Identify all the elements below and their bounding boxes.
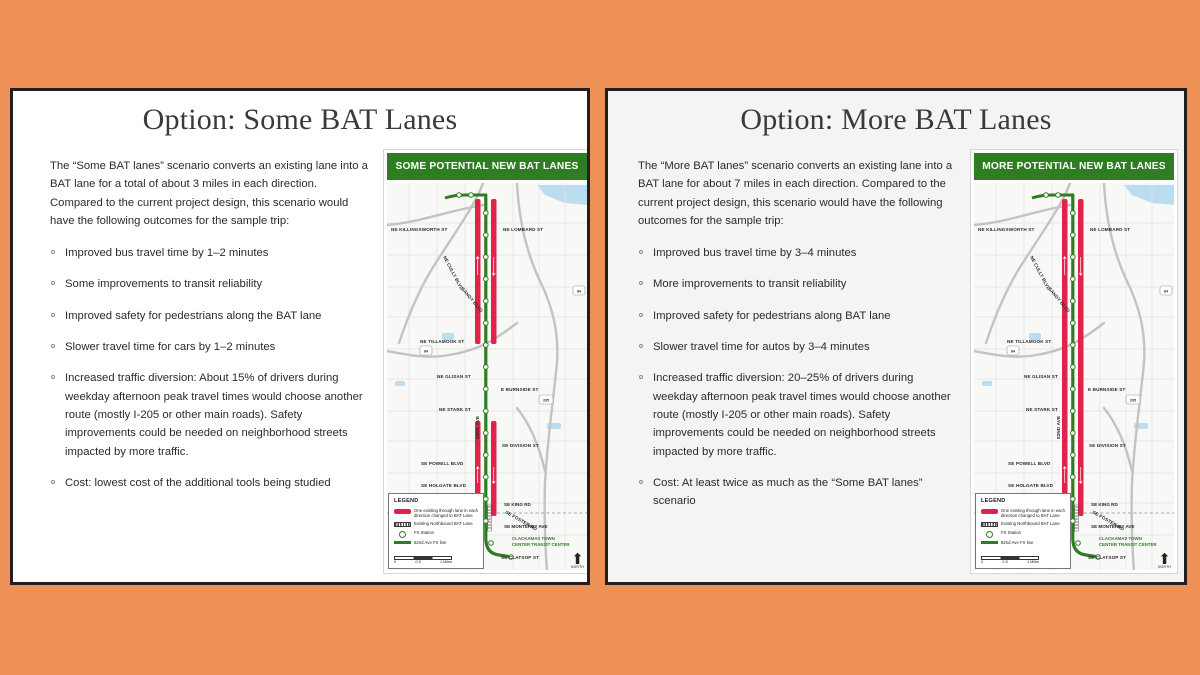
map-label: NE STARK ST [439,407,471,412]
page-title-more: Option: More BAT Lanes [608,103,1184,137]
legend-row: One existing through lane in each direct… [981,508,1066,519]
list-item: Cost: lowest cost of the additional tool… [50,474,368,492]
red-bar-icon [981,508,1001,514]
legend-row: 82nd Ave FX line [981,540,1066,545]
map-label: SE DIVISION ST [502,443,539,448]
map-label: NE STARK ST [1026,407,1058,412]
map-label: SE DIVISION ST [1089,443,1126,448]
north-arrow: ⬆ NORTH [1158,554,1171,569]
outcomes-list-more: Improved bus travel time by 3–4 minutes … [638,244,956,510]
map-card-some: SOME POTENTIAL NEW BAT LANES [383,149,590,574]
map-label: NE TILLAMOOK ST [1007,339,1051,344]
scalebar-tick: 0.5 [415,560,420,565]
text-column-more: The “More BAT lanes” scenario converts a… [638,157,956,523]
panel-body-some: The “Some BAT lanes” scenario converts a… [13,149,587,582]
green-line-icon [394,540,414,544]
map-label-clackamas-town-center: CLACKAMAS TOWN CENTER TRANSIT CENTER [1099,536,1157,547]
scalebar-bar [981,556,1039,559]
highway-shield-84b: 84 [573,286,585,295]
svg-text:84: 84 [1011,350,1015,354]
highway-shield-205: 205 [539,395,553,404]
scalebar-tick: 0 [981,560,983,565]
map-banner-more: MORE POTENTIAL NEW BAT LANES [974,153,1174,180]
svg-text:84: 84 [424,350,428,354]
legend-title: LEGEND [394,498,479,505]
map-label: E BURNSIDE ST [501,387,538,392]
scalebar-tick: 0.5 [1002,560,1007,565]
scalebar-bar [394,556,452,559]
legend-label: One existing through lane in each direct… [414,508,479,519]
map-label-se-monterey-ave: SE MONTEREY AVE [504,524,548,529]
svg-text:205: 205 [1130,399,1136,403]
north-arrow-label: NORTH [571,565,584,569]
svg-text:84: 84 [577,290,581,294]
map-banner-some: SOME POTENTIAL NEW BAT LANES [387,153,587,180]
map-label: NE GLISAN ST [1024,374,1058,379]
highway-shield-84: 84 [1007,346,1019,355]
legend-label: Existing Northbound BAT Lane [414,521,479,526]
intro-paragraph-some: The “Some BAT lanes” scenario converts a… [50,157,368,230]
legend-row: One existing through lane in each direct… [394,508,479,519]
north-arrow-icon: ⬆ [571,554,584,565]
map-label-clackamas-town-center: CLACKAMAS TOWN CENTER TRANSIT CENTER [512,536,570,547]
place-label-line2: CENTER TRANSIT CENTER [512,542,570,548]
hatched-bar-icon [394,521,414,527]
panel-body-more: The “More BAT lanes” scenario converts a… [608,149,1184,582]
list-item: Increased traffic diversion: 20–25% of d… [638,369,956,460]
map-label: SE POWELL BLVD [1008,461,1051,466]
intro-paragraph-more: The “More BAT lanes” scenario converts a… [638,157,956,230]
legend-row: FX Station [394,530,479,538]
north-arrow: ⬆ NORTH [571,554,584,569]
legend-label: 82nd Ave FX line [414,540,479,545]
hatched-bar-icon [981,521,1001,527]
open-circle-icon [981,530,1001,538]
map-label: NE LOMBARD ST [503,227,543,232]
map-label: NE LOMBARD ST [1090,227,1130,232]
legend-label: FX Station [1001,530,1066,535]
open-circle-icon [394,530,414,538]
map-label: NE GLISAN ST [437,374,471,379]
list-item: Slower travel time for cars by 1–2 minut… [50,338,368,356]
map-label: E BURNSIDE ST [1088,387,1125,392]
legend-row: Existing Northbound BAT Lane [981,521,1066,527]
red-bar-icon [394,508,414,514]
list-item: Some improvements to transit reliability [50,275,368,293]
list-item: Improved safety for pedestrians along th… [50,307,368,325]
map-scalebar: 0 0.5 1 Miles [981,556,1039,565]
panel-some-bat-lanes: Option: Some BAT Lanes The “Some BAT lan… [10,88,590,585]
highway-shield-205: 205 [1126,395,1140,404]
map-legend-more: LEGEND One existing through lane in each… [975,493,1071,569]
panel-more-bat-lanes: Option: More BAT Lanes The “More BAT lan… [605,88,1187,585]
legend-label: Existing Northbound BAT Lane [1001,521,1066,526]
place-label-line2: CENTER TRANSIT CENTER [1099,542,1157,548]
highway-shield-84b: 84 [1160,286,1172,295]
map-label: SE CLATSOP ST [1088,555,1126,560]
page-title-some: Option: Some BAT Lanes [13,103,587,137]
map-label: SE CLATSOP ST [501,555,539,560]
north-arrow-icon: ⬆ [1158,554,1171,565]
list-item: Cost: At least twice as much as the “Som… [638,474,956,511]
svg-text:205: 205 [543,399,549,403]
map-legend-some: LEGEND One existing through lane in each… [388,493,484,569]
legend-label: FX Station [414,530,479,535]
legend-label: 82nd Ave FX line [1001,540,1066,545]
map-card-more: MORE POTENTIAL NEW BAT LANES [970,149,1178,574]
list-item: More improvements to transit reliability [638,275,956,293]
map-label: 82ND AVE [475,416,480,439]
list-item: Improved bus travel time by 1–2 minutes [50,244,368,262]
legend-title: LEGEND [981,498,1066,505]
legend-row: FX Station [981,530,1066,538]
list-item: Improved safety for pedestrians along BA… [638,307,956,325]
scalebar-tick: 1 Miles [440,560,452,565]
map-label: SE HOLGATE BLVD [1008,483,1054,488]
legend-label: One existing through lane in each direct… [1001,508,1066,519]
map-scalebar: 0 0.5 1 Miles [394,556,452,565]
north-arrow-label: NORTH [1158,565,1171,569]
map-label-se-king-rd: SE KING RD [1091,502,1118,507]
map-label: NE KILLINGSWORTH ST [391,227,447,232]
scalebar-tick: 1 Miles [1027,560,1039,565]
list-item: Increased traffic diversion: About 15% o… [50,369,368,460]
green-line-icon [981,540,1001,544]
legend-row: Existing Northbound BAT Lane [394,521,479,527]
text-column-some: The “Some BAT lanes” scenario converts a… [50,157,368,505]
highway-shield-84: 84 [420,346,432,355]
map-label: NE KILLINGSWORTH ST [978,227,1034,232]
map-label: SE HOLGATE BLVD [421,483,467,488]
legend-row: 82nd Ave FX line [394,540,479,545]
map-label: SE POWELL BLVD [421,461,464,466]
list-item: Improved bus travel time by 3–4 minutes [638,244,956,262]
list-item: Slower travel time for autos by 3–4 minu… [638,338,956,356]
scalebar-tick: 0 [394,560,396,565]
svg-text:84: 84 [1164,290,1168,294]
map-label: 82ND AVE [1056,416,1061,439]
map-label-se-monterey-ave: SE MONTEREY AVE [1091,524,1135,529]
map-label-se-king-rd: SE KING RD [504,502,531,507]
map-label: NE TILLAMOOK ST [420,339,464,344]
outcomes-list-some: Improved bus travel time by 1–2 minutes … [50,244,368,492]
